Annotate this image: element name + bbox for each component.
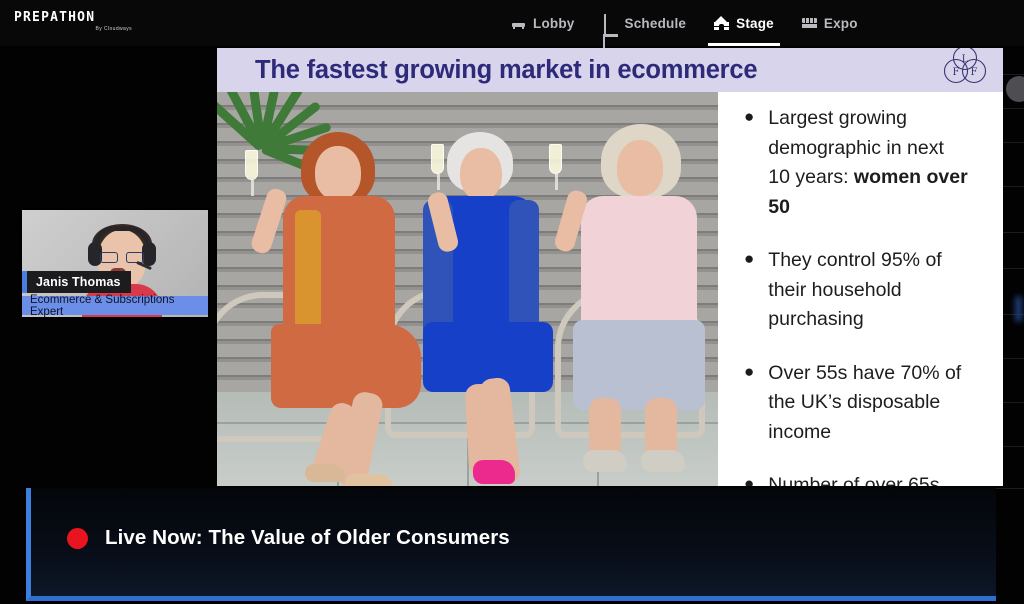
slide-title: The fastest growing market in ecommerce [255, 56, 757, 85]
svg-text:L: L [962, 54, 969, 65]
slide-bullet-list: ●Largest growing demographic in next 10 … [718, 92, 1003, 486]
nav-item-stage-label: Stage [736, 16, 774, 31]
bullet-point-icon: ● [744, 359, 754, 448]
speaker-role: Ecommerce & Subscriptions Expert [30, 294, 200, 318]
slide-bullet-item: ●They control 95% of their household pur… [744, 246, 989, 335]
stage-page: PREPATHON By Cloudways Lobby Schedule [0, 0, 1024, 604]
live-session-banner[interactable]: Live Now: The Value of Older Consumers [26, 488, 996, 601]
nav-item-schedule[interactable]: Schedule [589, 0, 701, 46]
banner-content: Live Now: The Value of Older Consumers [67, 526, 510, 550]
brand-logo[interactable]: PREPATHON By Cloudways [14, 11, 134, 32]
svg-text:F: F [971, 67, 978, 78]
speaker-role-badge: Ecommerce & Subscriptions Expert [22, 296, 208, 315]
slide-body: ●Largest growing demographic in next 10 … [217, 92, 1003, 486]
slide-bullet-item: ●Number of over 65s expected to double b… [744, 471, 989, 486]
speaker-video-tile[interactable]: Janis Thomas Ecommerce & Subscriptions E… [19, 207, 211, 320]
lff-logo: L F F [939, 48, 991, 90]
speaker-name: Janis Thomas [36, 275, 121, 289]
presentation-slide[interactable]: The fastest growing market in ecommerce … [217, 48, 1003, 486]
brand-subtitle: By Cloudways [14, 26, 134, 32]
slide-bullet-text: Over 55s have 70% of the UK’s disposable… [768, 359, 968, 448]
bullet-point-icon: ● [744, 471, 754, 486]
nav-item-stage[interactable]: Stage [700, 0, 788, 46]
svg-text:F: F [953, 67, 960, 78]
nav-item-schedule-label: Schedule [625, 16, 687, 31]
stage-icon [714, 16, 729, 30]
slide-bullet-item: ●Over 55s have 70% of the UK’s disposabl… [744, 359, 989, 448]
live-session-title: Live Now: The Value of Older Consumers [105, 526, 510, 550]
slide-title-bar: The fastest growing market in ecommerce … [217, 48, 1003, 92]
slide-bullet-text: Number of over 65s expected to double by… [768, 471, 968, 486]
booth-icon [802, 16, 817, 30]
nav-items: Lobby Schedule Stage Expo [497, 0, 872, 46]
bullet-point-icon: ● [744, 104, 754, 222]
bullet-point-icon: ● [744, 246, 754, 335]
slide-photo [217, 92, 718, 486]
couch-icon [511, 16, 526, 30]
slide-bullet-text: They control 95% of their household purc… [768, 246, 968, 335]
slide-bullet-text: Largest growing demographic in next 10 y… [768, 104, 968, 222]
nav-item-lobby-label: Lobby [533, 16, 575, 31]
brand-name: PREPATHON [14, 11, 134, 24]
panel-highlight [1015, 296, 1022, 322]
live-dot-icon [67, 528, 88, 549]
avatar[interactable] [1006, 76, 1024, 102]
nav-item-expo-label: Expo [824, 16, 858, 31]
nav-item-expo[interactable]: Expo [788, 0, 872, 46]
calendar-icon [603, 16, 618, 30]
top-navigation-bar: PREPATHON By Cloudways Lobby Schedule [0, 0, 1024, 46]
speaker-name-badge: Janis Thomas [22, 271, 131, 293]
nav-item-lobby[interactable]: Lobby [497, 0, 589, 46]
slide-bullet-item: ●Largest growing demographic in next 10 … [744, 104, 989, 222]
